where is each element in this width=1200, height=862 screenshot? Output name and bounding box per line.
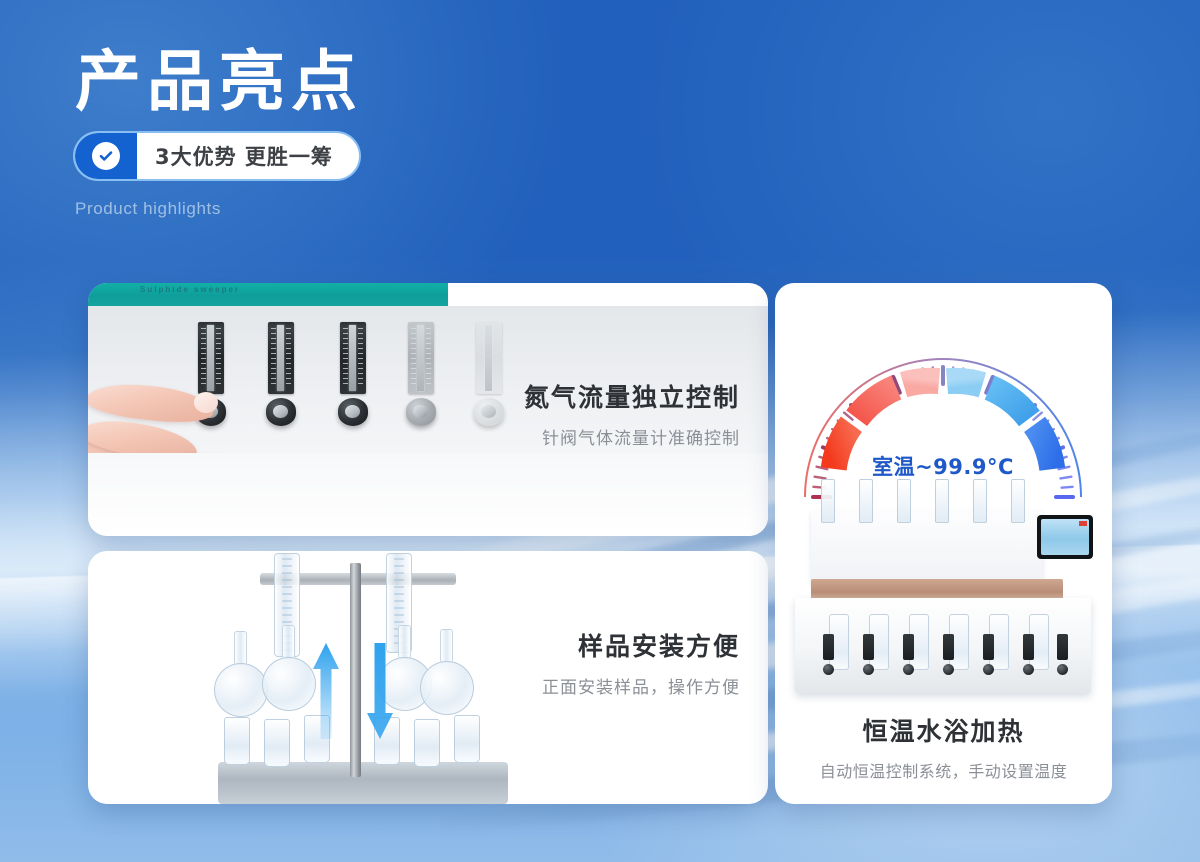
arrow-up-icon [312, 643, 340, 739]
card-temp-subheading: 自动恒温控制系统，手动设置温度 [775, 758, 1112, 782]
card-temp-heading: 恒温水浴加热 [775, 712, 1112, 748]
gauge-temperature-label: 室温~99.9°C [789, 451, 1097, 481]
card-flow-subheading: 针阀气体流量计准确控制 [524, 424, 740, 449]
flow-meter-5 [476, 322, 502, 394]
card-sample-text: 样品安装方便 正面安装样品，操作方便 [542, 627, 740, 698]
arrow-down-icon [366, 643, 394, 739]
temperature-gauge: 室温~99.9°C [789, 311, 1097, 507]
advantages-badge: 3大优势 更胜一筹 [75, 133, 359, 179]
instrument-illustration [787, 479, 1099, 694]
card-flow-text: 氮气流量独立控制 针阀气体流量计准确控制 [524, 378, 740, 449]
flow-meter-3 [340, 322, 366, 394]
card-temp-text: 恒温水浴加热 自动恒温控制系统，手动设置温度 [775, 712, 1112, 782]
page-header: 产品亮点 3大优势 更胜一筹 Product highlights [75, 46, 363, 219]
badge-icon-container [75, 133, 137, 179]
instrument-banner-label: Sulphide sweeper [140, 285, 240, 294]
page-title: 产品亮点 [75, 46, 363, 117]
page-subtitle: Product highlights [75, 199, 363, 219]
check-circle-icon [92, 142, 120, 170]
card-sample-subheading: 正面安装样品，操作方便 [542, 673, 740, 698]
glassware-illustration [208, 559, 508, 804]
badge-label: 3大优势 更胜一筹 [137, 133, 359, 179]
card-flow-heading: 氮气流量独立控制 [524, 378, 740, 414]
hand-illustration [88, 380, 291, 536]
card-flow-control[interactable]: Sulphide sweeper [88, 283, 768, 536]
card-sample-install[interactable]: 样品安装方便 正面安装样品，操作方便 [88, 551, 768, 804]
flow-meter-4 [408, 322, 434, 394]
card-constant-temp[interactable]: 室温~99.9°C 恒温水浴加热 自动恒温控制系统 [775, 283, 1112, 804]
card-sample-heading: 样品安装方便 [542, 627, 740, 663]
instrument-touchscreen [1037, 515, 1093, 559]
